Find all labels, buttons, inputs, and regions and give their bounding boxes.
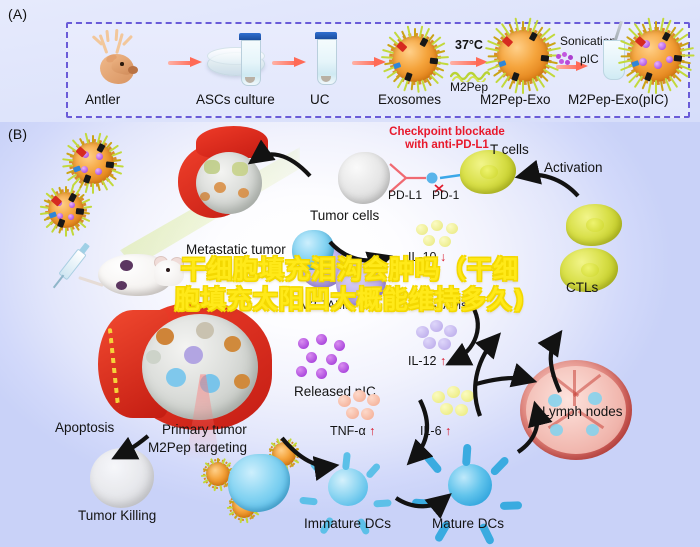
- il6-dots: [432, 386, 478, 418]
- step-label-m2pep-exo: M2Pep-Exo: [480, 92, 551, 107]
- centrifuge-tube-icon-2: [315, 32, 337, 84]
- label-t-cells: T cells: [490, 142, 529, 157]
- cytokine-il10-name: IL-10: [408, 250, 437, 264]
- label-m2pep-targeting: M2Pep targeting: [148, 440, 247, 455]
- cytokine-il12-arrow: ↑: [440, 354, 446, 368]
- pic-label: pIC: [580, 52, 599, 66]
- exosome-pic-icon: [630, 30, 682, 82]
- il10-dots: [416, 220, 460, 250]
- label-pd-l1: PD-L1: [388, 188, 422, 202]
- label-m1-tams: M1-TAMs: [416, 298, 467, 312]
- label-lymph-nodes: Lymph nodes: [542, 404, 623, 419]
- exosome-particle: [72, 142, 114, 184]
- process-arrow-2: [272, 58, 306, 67]
- m1-tam-dots: [414, 320, 462, 352]
- cytokine-tnf-name: TNF-α: [330, 424, 366, 438]
- panel-a: (A) Antler ASCs culture: [0, 0, 700, 122]
- label-activation: Activation: [544, 160, 603, 175]
- step-label-asc: ASCs culture: [196, 92, 275, 107]
- label-apoptosis: Apoptosis: [55, 420, 114, 435]
- pic-dots-icon: [556, 52, 576, 66]
- cytokine-il6-name: IL-6: [420, 424, 442, 438]
- label-metastatic-tumor: Metastatic tumor: [186, 242, 286, 257]
- panel-a-tag: (A): [8, 6, 27, 22]
- label-ctls: CTLs: [566, 280, 598, 295]
- step-label-exosomes: Exosomes: [378, 92, 441, 107]
- process-arrow-1: [168, 58, 202, 67]
- label-tumor-cells: Tumor cells: [310, 208, 379, 223]
- mature-dc-illustration: [430, 448, 508, 524]
- exosome-peptide-icon: [497, 30, 549, 82]
- label-m2-tams: M2-TAMs: [300, 298, 351, 312]
- step-label-uc: UC: [310, 92, 330, 107]
- label-pd-1: PD-1: [432, 188, 459, 202]
- centrifuge-tube-icon: [239, 33, 261, 85]
- deer-icon: [82, 28, 162, 90]
- cytokine-il10: IL-10 ↓: [408, 250, 446, 264]
- cytokine-il6-arrow: ↑: [445, 424, 451, 438]
- apoptotic-tumor-cell: [90, 448, 154, 508]
- process-arrow-3: [352, 58, 386, 67]
- cytokine-il6: IL-6 ↑: [420, 424, 451, 438]
- released-pic-dots: [296, 334, 352, 380]
- mouse-icon: [98, 254, 194, 308]
- tnf-alpha-dots: [338, 390, 384, 422]
- scientific-figure: (A) Antler ASCs culture: [0, 0, 700, 547]
- immature-dc-illustration: [312, 452, 382, 522]
- tumor-cell-illustration: [338, 152, 390, 204]
- label-mature-dcs: Mature DCs: [432, 516, 504, 531]
- exosome-particle: [48, 192, 84, 228]
- exosome-icon: [392, 36, 438, 82]
- cytokine-il10-arrow: ↓: [440, 250, 446, 264]
- panel-b: Metastatic tumor Tumor cells Checkpoint …: [0, 122, 700, 547]
- ctl-cell-illustration: [566, 204, 622, 246]
- cytokine-tnf-arrow: ↑: [369, 424, 375, 438]
- checkpoint-line-1: Checkpoint blockade: [389, 126, 505, 138]
- cytokine-il12: IL-12 ↑: [408, 354, 446, 368]
- step-label-m2pep-exo-pic: M2Pep-Exo(pIC): [568, 92, 669, 107]
- temperature-label: 37°C: [455, 38, 483, 52]
- checkpoint-line-2: with anti-PD-L1: [405, 139, 489, 151]
- exosome-particle-small: [206, 462, 230, 486]
- step-label-antler: Antler: [85, 92, 120, 107]
- process-arrow-4: [450, 58, 488, 67]
- label-tumor-killing: Tumor Killing: [78, 508, 156, 523]
- syringe-icon: [48, 248, 87, 293]
- cytokine-tnf-alpha: TNF-α ↑: [330, 424, 375, 438]
- target-macrophage-cell: [228, 454, 290, 512]
- label-primary-tumor: Primary tumor: [162, 422, 247, 437]
- cytokine-il12-name: IL-12: [408, 354, 437, 368]
- label-immature-dcs: Immature DCs: [304, 516, 391, 531]
